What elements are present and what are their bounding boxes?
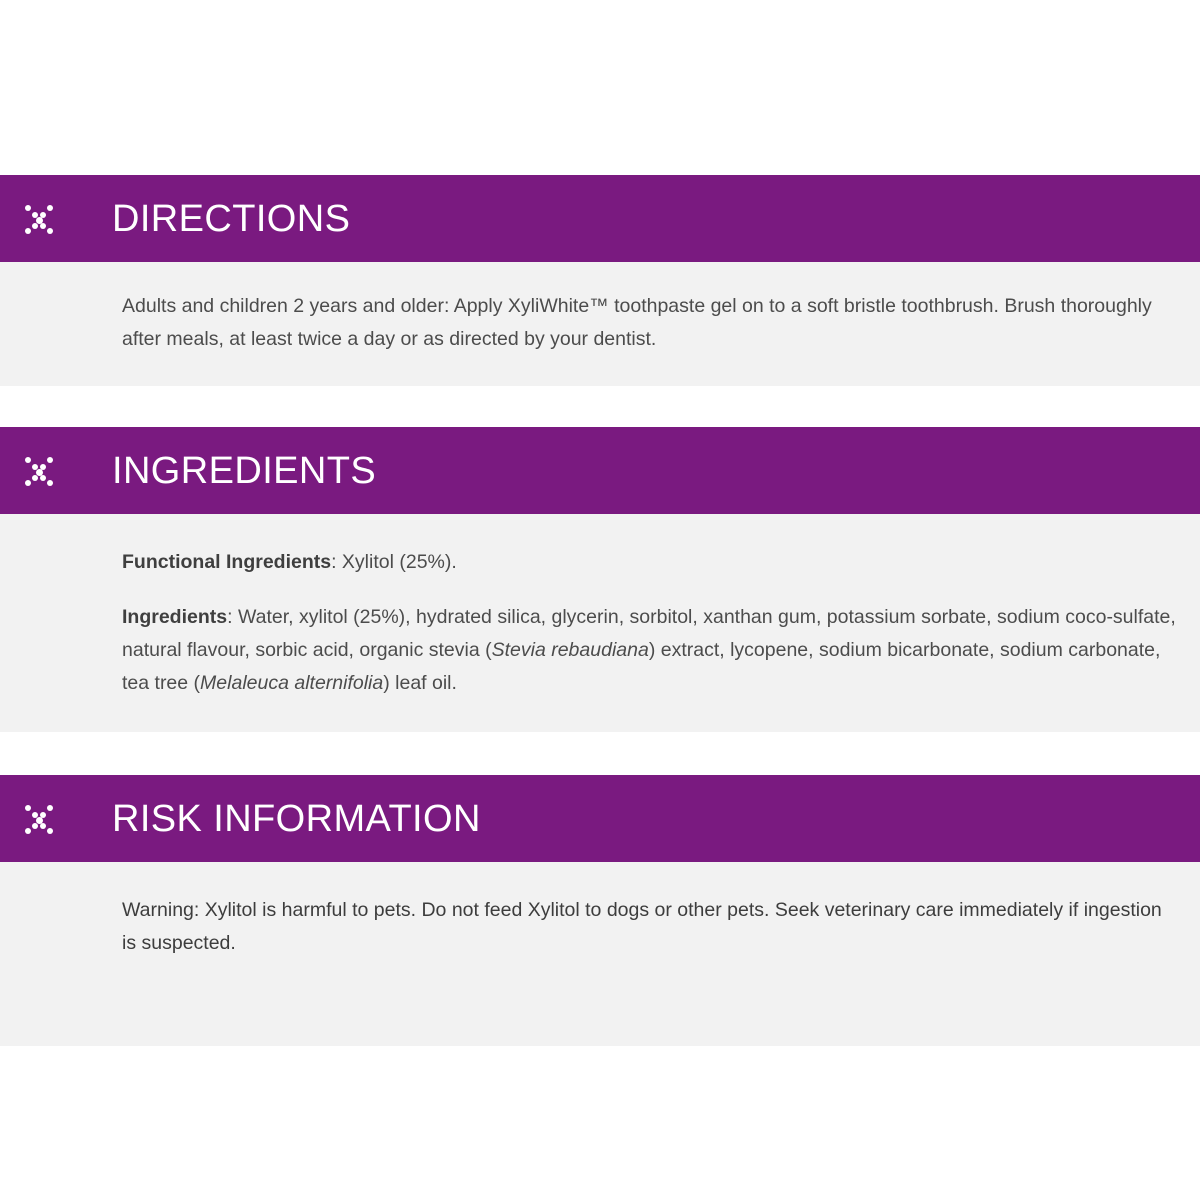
dots-x-icon	[22, 802, 56, 836]
risk-warning-paragraph: Warning: Xylitol is harmful to pets. Do …	[122, 894, 1180, 960]
section-body-ingredients: Functional Ingredients: Xylitol (25%). I…	[0, 514, 1200, 732]
dots-x-icon	[22, 454, 56, 488]
section-header-ingredients: INGREDIENTS	[0, 427, 1200, 514]
section-title-directions: DIRECTIONS	[112, 200, 350, 238]
section-header-risk-information: RISK INFORMATION	[0, 775, 1200, 862]
directions-paragraph: Adults and children 2 years and older: A…	[122, 290, 1180, 356]
section-directions: DIRECTIONS Adults and children 2 years a…	[0, 175, 1200, 386]
section-gap	[0, 386, 1200, 427]
section-body-risk-information: Warning: Xylitol is harmful to pets. Do …	[0, 862, 1200, 1046]
section-header-directions: DIRECTIONS	[0, 175, 1200, 262]
functional-ingredients-paragraph: Functional Ingredients: Xylitol (25%).	[122, 546, 1180, 579]
top-spacer	[0, 0, 1200, 175]
section-ingredients: INGREDIENTS Functional Ingredients: Xyli…	[0, 427, 1200, 732]
ingredients-paragraph: Ingredients: Water, xylitol (25%), hydra…	[122, 601, 1180, 700]
product-info-page: DIRECTIONS Adults and children 2 years a…	[0, 0, 1200, 1200]
section-title-risk-information: RISK INFORMATION	[112, 800, 481, 838]
section-body-directions: Adults and children 2 years and older: A…	[0, 262, 1200, 386]
section-title-ingredients: INGREDIENTS	[112, 452, 376, 490]
dots-x-icon	[22, 202, 56, 236]
section-risk-information: RISK INFORMATION Warning: Xylitol is har…	[0, 775, 1200, 1046]
section-gap	[0, 732, 1200, 775]
